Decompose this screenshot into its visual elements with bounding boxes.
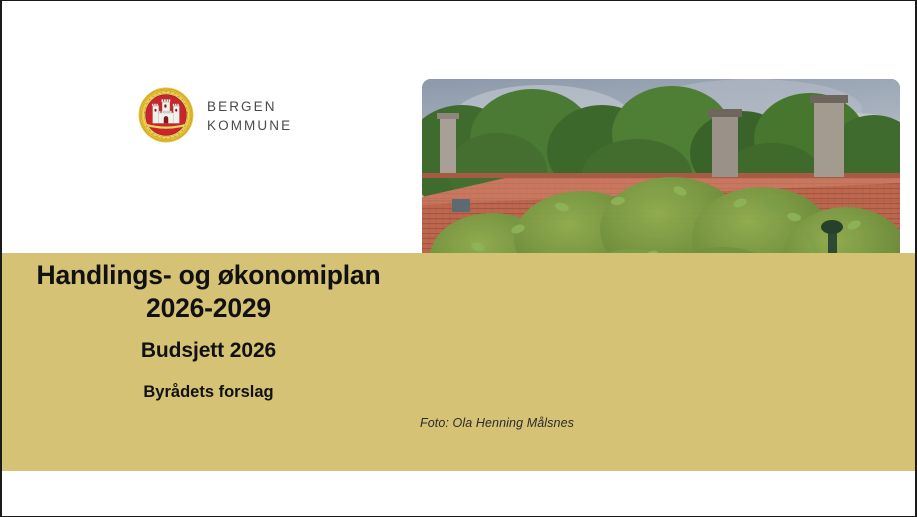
wordmark-line-kommune: KOMMUNE [207,116,292,135]
slide-canvas: BERGEN KOMMUNE [0,0,917,517]
wordmark-line-bergen: BERGEN [207,97,292,116]
bergen-kommune-logo: BERGEN KOMMUNE [138,87,292,143]
bergen-kommune-wordmark: BERGEN KOMMUNE [207,95,292,135]
title-group: Handlings- og økonomiplan 2026-2029 Buds… [2,259,415,404]
photo-credit: Foto: Ola Henning Målsnes [420,416,574,430]
page-subtitle: Budsjett 2026 [2,336,415,366]
page-tagline: Byrådets forslag [2,380,415,404]
page-title: Handlings- og økonomiplan 2026-2029 [2,259,415,325]
bergen-kommune-coat-of-arms-icon [138,87,194,143]
